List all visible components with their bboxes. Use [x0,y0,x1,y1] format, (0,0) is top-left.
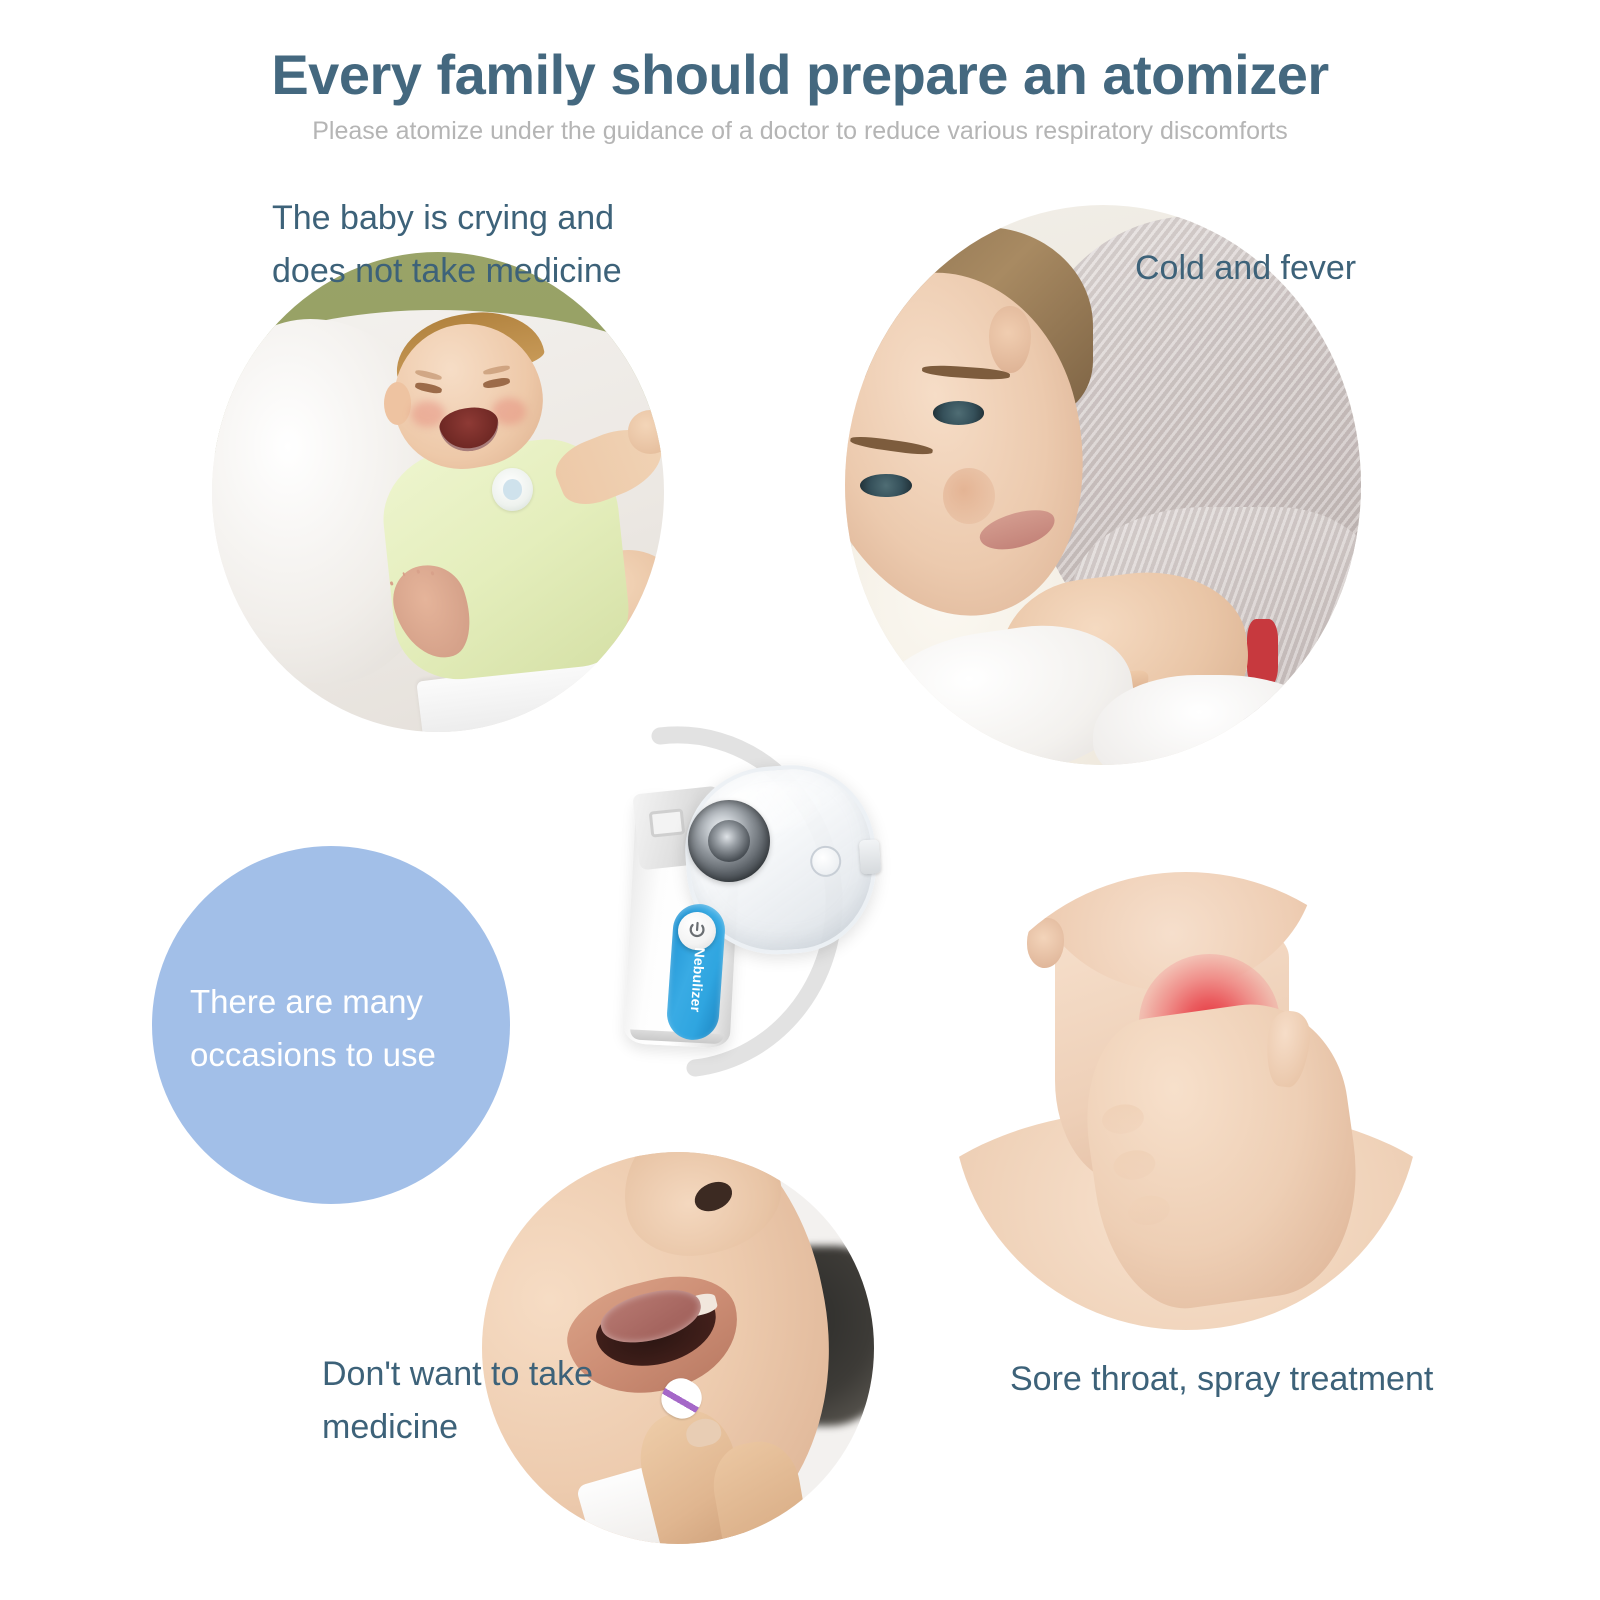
throat-knuckle [1100,1102,1146,1137]
woman-nose [943,468,995,524]
baby-toe [431,571,435,576]
baby-fist [628,410,664,453]
caption-baby-crying: The baby is crying and does not take med… [272,192,692,297]
page-subtitle: Please atomize under the guidance of a d… [0,117,1600,146]
nebulizer-device: Nebulizer [600,700,940,1120]
product-nebulizer: Nebulizer [600,700,940,1120]
caption-occasions: There are many occasions to use [190,975,490,1082]
page-title: Every family should prepare an atomizer [0,42,1600,107]
baby-ear [384,382,411,425]
baby-toe [402,572,406,577]
caption-taking-medicine: Don't want to take medicine [322,1348,682,1453]
infographic-page: Every family should prepare an atomizer … [0,0,1600,1600]
device-cup-window [649,808,686,837]
throat-knuckle [1126,1193,1172,1228]
woman-ear [989,306,1030,373]
device-nozzle [688,800,770,882]
baby-toe [417,569,421,574]
throat-knuckle [1112,1148,1158,1183]
nozzle-core [708,820,751,863]
mask-clip [859,839,881,874]
photo-baby-crying [212,252,664,732]
throat-thumb [1263,1009,1313,1089]
mask-vent-hole [809,845,842,878]
power-icon [687,920,706,941]
caption-sore-throat: Sore throat, spray treatment [1010,1353,1450,1406]
photo-sore-throat [952,872,1420,1330]
woman-eye [933,401,985,425]
caption-cold-fever: Cold and fever [1135,242,1435,295]
baby-pacifier-clip [492,468,533,511]
